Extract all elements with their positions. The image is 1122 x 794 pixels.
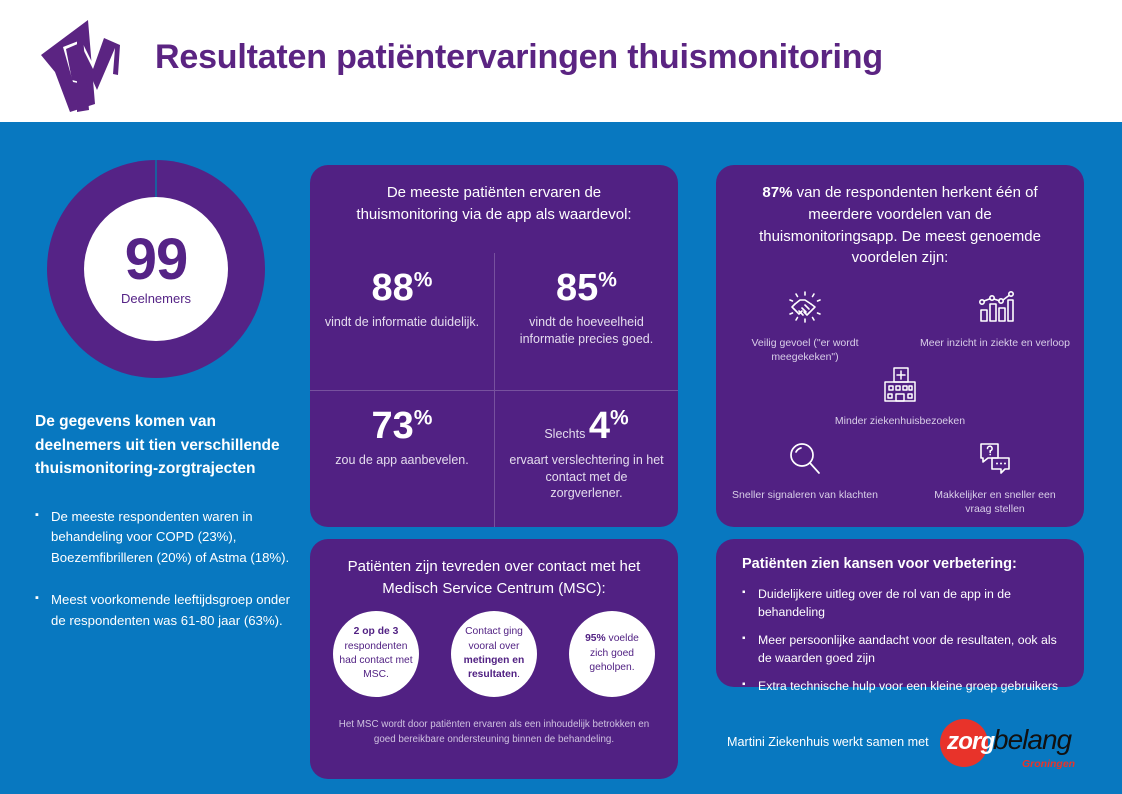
- bar-chart-trend-icon: [973, 283, 1017, 331]
- stat-label: vindt de hoeveelheid informatie precies …: [509, 314, 664, 347]
- page-title: Resultaten patiëntervaringen thuismonito…: [155, 38, 883, 77]
- msc-stat-text: Contact ging vooral over metingen en res…: [457, 625, 531, 683]
- benefit-label: Makkelijker en sneller een vraag stellen: [920, 488, 1070, 516]
- list-item-text: Duidelijkere uitleg over de rol van de a…: [758, 585, 1072, 622]
- partner-note: Martini Ziekenhuis werkt samen met: [727, 735, 929, 749]
- infographic-body: 99 Deelnemers De gegevens komen van deel…: [0, 122, 1122, 794]
- msc-stat-circle: 2 op de 3 respondenten had contact met M…: [333, 611, 419, 697]
- panel-title: De meeste patiënten ervaren de thuismoni…: [310, 165, 678, 226]
- bullet-icon: ▪: [742, 677, 758, 695]
- stat-label: zou de app aanbevelen.: [335, 452, 468, 469]
- zorgbelang-region-text: Groningen: [1022, 758, 1075, 770]
- benefits-percentage: 87%: [762, 184, 792, 201]
- panel-improvements: Patiënten zien kansen voor verbetering: …: [716, 539, 1084, 687]
- list-item: ▪ Meer persoonlijke aandacht voor de res…: [742, 631, 1072, 668]
- stat-cell-4: Slechts 4% ervaart verslechtering in het…: [494, 390, 678, 527]
- panel-title: Patiënten zien kansen voor verbetering:: [742, 556, 1062, 572]
- panel-title: 87% van de respondenten herkent één of m…: [716, 165, 1084, 269]
- benefits-title-rest: van de respondenten herkent één of meerd…: [759, 184, 1041, 266]
- list-item: ▪ Duidelijkere uitleg over de rol van de…: [742, 585, 1072, 622]
- stat-label: vindt de informatie duidelijk.: [325, 314, 479, 331]
- martini-ziekenhuis-logo: [33, 12, 143, 112]
- stat-cell-85: 85% vindt de hoeveelheid informatie prec…: [494, 253, 678, 390]
- msc-stat-text: 95% voelde zich goed geholpen.: [575, 632, 649, 675]
- panel-msc: Patiënten zijn tevreden over contact met…: [310, 539, 678, 779]
- stat-prefix: Slechts: [544, 427, 585, 441]
- msc-stat-circle: 95% voelde zich goed geholpen.: [569, 611, 655, 697]
- list-item: ▪ Extra technische hulp voor een kleine …: [742, 677, 1072, 695]
- list-item-text: Meer persoonlijke aandacht voor de resul…: [758, 631, 1072, 668]
- hospital-icon: [878, 361, 922, 409]
- list-item: ▪ De meeste respondenten waren in behand…: [35, 507, 295, 568]
- bullet-icon: ▪: [742, 631, 758, 668]
- msc-stat-text: 2 op de 3 respondenten had contact met M…: [339, 625, 413, 683]
- infographic-page: Resultaten patiëntervaringen thuismonito…: [0, 0, 1122, 794]
- benefit-item: Makkelijker en sneller een vraag stellen: [920, 435, 1070, 516]
- handshake-icon: [783, 283, 827, 331]
- stat-label: ervaart verslechtering in het contact me…: [509, 452, 664, 502]
- magnifier-icon: [783, 435, 827, 483]
- stat-value: 73%: [372, 407, 433, 445]
- donut-label: Deelnemers: [121, 291, 191, 306]
- list-item-text: De meeste respondenten waren in behandel…: [51, 507, 295, 568]
- panel-app-value: De meeste patiënten ervaren de thuismoni…: [310, 165, 678, 527]
- bullet-icon: ▪: [35, 590, 51, 631]
- left-bullet-list: ▪ De meeste respondenten waren in behand…: [35, 507, 295, 653]
- zorgbelang-zorg-text: zorg: [947, 728, 994, 756]
- stat-value: 88%: [372, 269, 433, 307]
- bullet-icon: ▪: [742, 585, 758, 622]
- question-chat-icon: [973, 435, 1017, 483]
- donut-center: 99 Deelnemers: [84, 197, 228, 341]
- deelnemers-donut: 99 Deelnemers: [47, 160, 265, 378]
- stat-value: 85%: [556, 269, 617, 307]
- benefit-label: Sneller signaleren van klachten: [732, 488, 878, 502]
- page-header: Resultaten patiëntervaringen thuismonito…: [0, 0, 1122, 122]
- stat-value: Slechts 4%: [544, 407, 628, 445]
- donut-number: 99: [125, 232, 188, 287]
- zorgbelang-groningen-logo: zorg belang Groningen: [940, 717, 1080, 777]
- stat-cell-88: 88% vindt de informatie duidelijk.: [310, 253, 494, 390]
- msc-stat-circle: Contact ging vooral over metingen en res…: [451, 611, 537, 697]
- benefit-item: Sneller signaleren van klachten: [730, 435, 880, 502]
- improvement-list: ▪ Duidelijkere uitleg over de rol van de…: [742, 585, 1072, 704]
- bullet-icon: ▪: [35, 507, 51, 568]
- panel-title: Patiënten zijn tevreden over contact met…: [310, 539, 678, 600]
- left-heading: De gegevens komen van deelnemers uit tie…: [35, 410, 290, 481]
- panel-benefits: 87% van de respondenten herkent één of m…: [716, 165, 1084, 527]
- benefit-label: Minder ziekenhuisbezoeken: [835, 414, 965, 428]
- msc-footnote: Het MSC wordt door patiënten ervaren als…: [310, 717, 678, 747]
- benefit-label: Meer inzicht in ziekte en verloop: [920, 336, 1070, 350]
- zorgbelang-belang-text: belang: [993, 724, 1071, 756]
- percentage-grid: 88% vindt de informatie duidelijk. 85% v…: [310, 253, 678, 527]
- list-item-text: Extra technische hulp voor een kleine gr…: [758, 677, 1058, 695]
- benefit-item: Meer inzicht in ziekte en verloop: [920, 283, 1070, 350]
- benefit-item: Minder ziekenhuisbezoeken: [825, 361, 975, 428]
- list-item-text: Meest voorkomende leeftijdsgroep onder d…: [51, 590, 295, 631]
- list-item: ▪ Meest voorkomende leeftijdsgroep onder…: [35, 590, 295, 631]
- benefits-grid: Veilig gevoel ("er wordt meegekeken"): [716, 283, 1084, 527]
- msc-circle-group: 2 op de 3 respondenten had contact met M…: [310, 611, 678, 711]
- stat-cell-73: 73% zou de app aanbevelen.: [310, 390, 494, 527]
- benefit-item: Veilig gevoel ("er wordt meegekeken"): [730, 283, 880, 364]
- donut-notch: [155, 160, 157, 198]
